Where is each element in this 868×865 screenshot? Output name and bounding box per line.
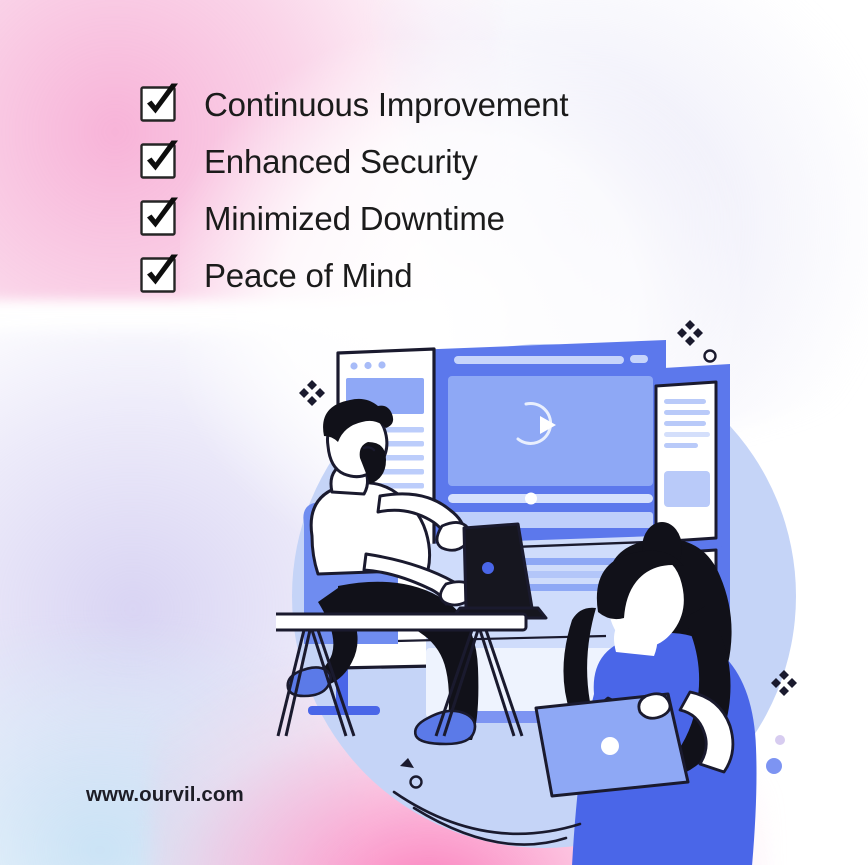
dot-icon — [775, 735, 785, 745]
window-dot-icon — [350, 362, 357, 369]
checklist-item-label: Enhanced Security — [204, 145, 478, 178]
website-url[interactable]: www.ourvil.com — [86, 783, 244, 807]
panel-image-block — [664, 471, 710, 507]
checkbox-checked-icon — [138, 140, 180, 182]
checklist-item-label: Minimized Downtime — [204, 202, 505, 235]
checkbox-checked-icon — [138, 254, 180, 296]
player-title-bar — [454, 356, 624, 364]
checkbox-checked-icon — [138, 83, 180, 125]
checkbox-checked-icon — [138, 197, 180, 239]
benefits-checklist: Continuous Improvement Enhanced Security… — [138, 76, 698, 304]
window-dot-icon — [364, 362, 371, 369]
checklist-item: Peace of Mind — [138, 247, 698, 303]
checklist-item-label: Continuous Improvement — [204, 88, 568, 121]
poster-canvas: Continuous Improvement Enhanced Security… — [0, 0, 868, 865]
checklist-item: Continuous Improvement — [138, 76, 698, 132]
progress-dot-icon — [525, 493, 537, 505]
window-dot-icon — [378, 361, 385, 368]
hand-icon — [639, 694, 670, 719]
checklist-item: Minimized Downtime — [138, 190, 698, 246]
team-working-on-dashboard-illustration — [276, 296, 846, 865]
sparkle-icon — [299, 380, 325, 406]
circle-outline-icon — [705, 351, 716, 362]
sparkle-icon — [677, 320, 703, 346]
checklist-item: Enhanced Security — [138, 133, 698, 189]
checklist-item-label: Peace of Mind — [204, 259, 412, 292]
progress-track — [448, 494, 653, 503]
dot-icon — [766, 758, 782, 774]
